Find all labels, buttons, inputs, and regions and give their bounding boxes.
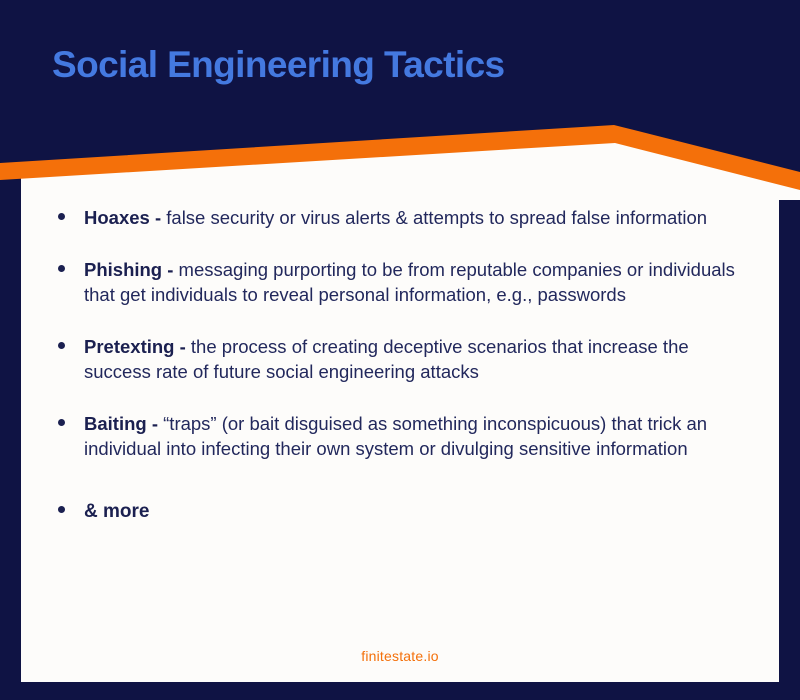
bullet-dot-icon xyxy=(58,506,65,513)
bullet-dot-icon xyxy=(58,342,65,349)
list-item: Hoaxes - false security or virus alerts … xyxy=(52,205,752,231)
list-item-description: messaging purporting to be from reputabl… xyxy=(84,259,735,306)
bullet-dot-icon xyxy=(58,265,65,272)
list-item: & more xyxy=(52,498,752,525)
card-top-shape xyxy=(21,135,800,200)
list-item-term: Pretexting - xyxy=(84,336,186,357)
slide-canvas: Social Engineering Tactics Hoaxes - fals… xyxy=(0,0,800,700)
bullet-dot-icon xyxy=(58,213,65,220)
bullet-dot-icon xyxy=(58,419,65,426)
tactics-list: Hoaxes - false security or virus alerts … xyxy=(52,205,752,525)
list-item-term: Baiting - xyxy=(84,413,158,434)
page-title: Social Engineering Tactics xyxy=(52,44,505,87)
list-item-term: & more xyxy=(84,501,149,522)
list-item-term: Phishing - xyxy=(84,259,173,280)
list-item-description: “traps” (or bait disguised as something … xyxy=(84,413,707,460)
list-item-description: false security or virus alerts & attempt… xyxy=(161,207,707,228)
footer-brand: finitestate.io xyxy=(0,648,800,664)
orange-accent-band xyxy=(0,125,800,190)
list-item: Baiting - “traps” (or bait disguised as … xyxy=(52,411,752,462)
list-item: Phishing - messaging purporting to be fr… xyxy=(52,257,752,308)
list-item-term: Hoaxes - xyxy=(84,207,161,228)
list-item: Pretexting - the process of creating dec… xyxy=(52,334,752,385)
